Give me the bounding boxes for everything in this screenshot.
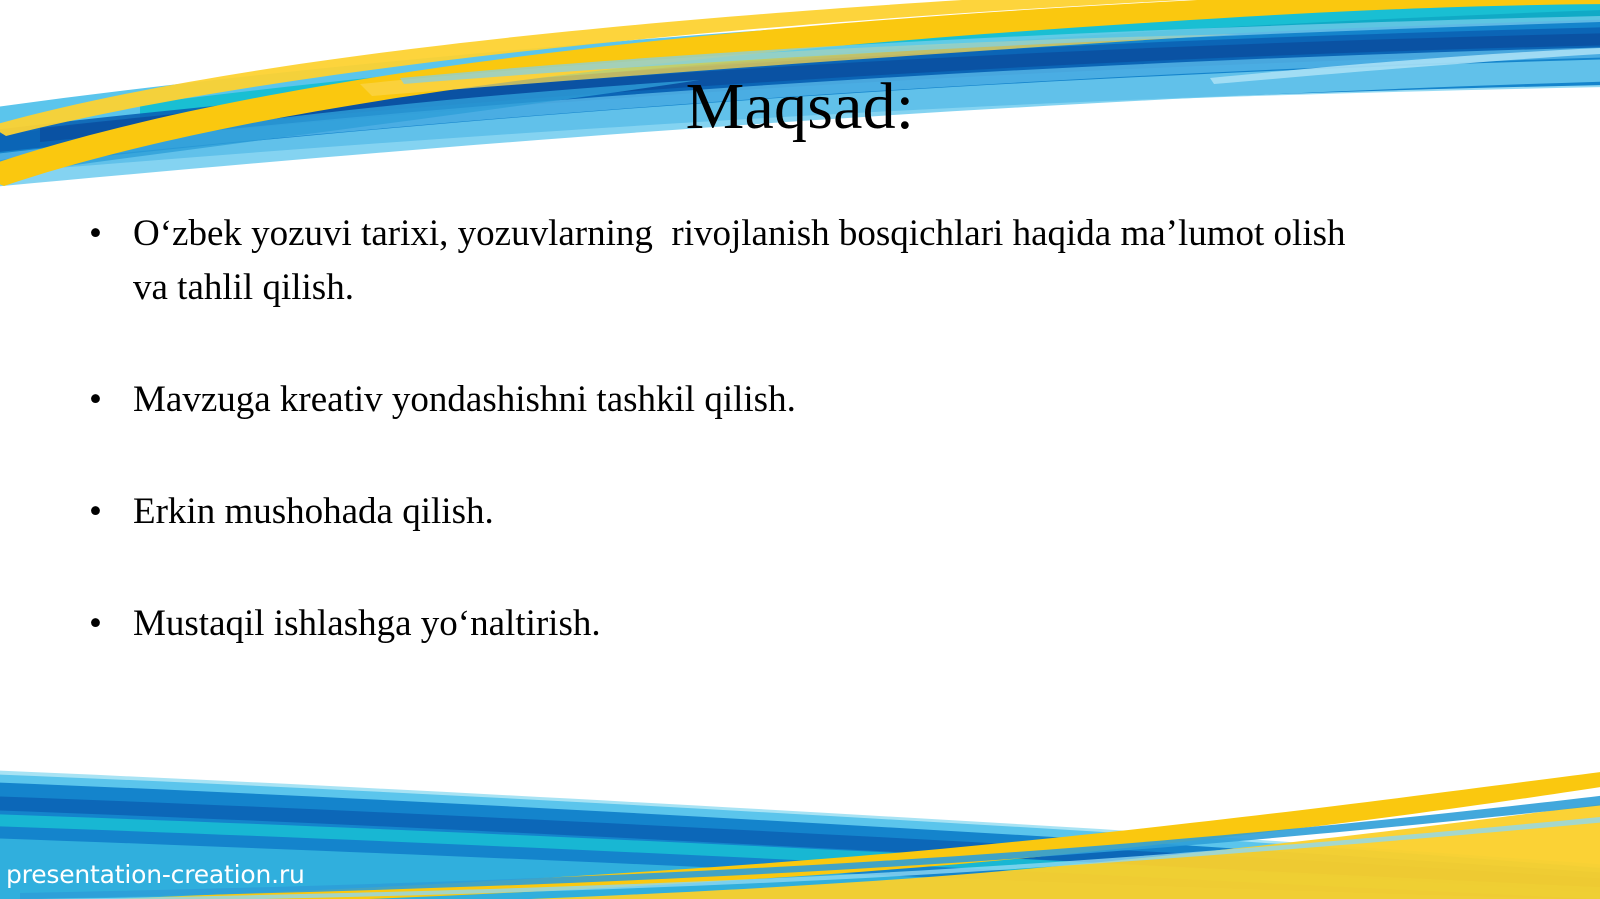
- slide: Maqsad: • Oʻzbek yozuvi tarixi, yozuvlar…: [0, 0, 1600, 899]
- list-item: • Mustaqil ishlashga yoʻnaltirish.: [78, 597, 1378, 651]
- swoosh-yellow-bottom-thin: [200, 799, 1600, 899]
- list-item-text: Oʻzbek yozuvi tarixi, yozuvlarning rivoj…: [133, 207, 1378, 315]
- watermark-text: presentation-creation.ru: [6, 861, 305, 889]
- list-item: • Erkin mushohada qilish.: [78, 485, 1378, 539]
- bullet-list: • Oʻzbek yozuvi tarixi, yozuvlarning riv…: [78, 207, 1378, 651]
- list-item: • Mavzuga kreativ yondashishni tashkil q…: [78, 373, 1378, 427]
- list-item-text: Mustaqil ishlashga yoʻnaltirish.: [133, 597, 1378, 651]
- list-item-text: Mavzuga kreativ yondashishni tashkil qil…: [133, 373, 1378, 427]
- bullet-dot-icon: •: [78, 597, 133, 651]
- list-item: • Oʻzbek yozuvi tarixi, yozuvlarning riv…: [78, 207, 1378, 315]
- page-title: Maqsad:: [0, 72, 1600, 141]
- bullet-dot-icon: •: [78, 373, 133, 427]
- bullet-dot-icon: •: [78, 207, 133, 261]
- bullet-dot-icon: •: [78, 485, 133, 539]
- list-item-text: Erkin mushohada qilish.: [133, 485, 1378, 539]
